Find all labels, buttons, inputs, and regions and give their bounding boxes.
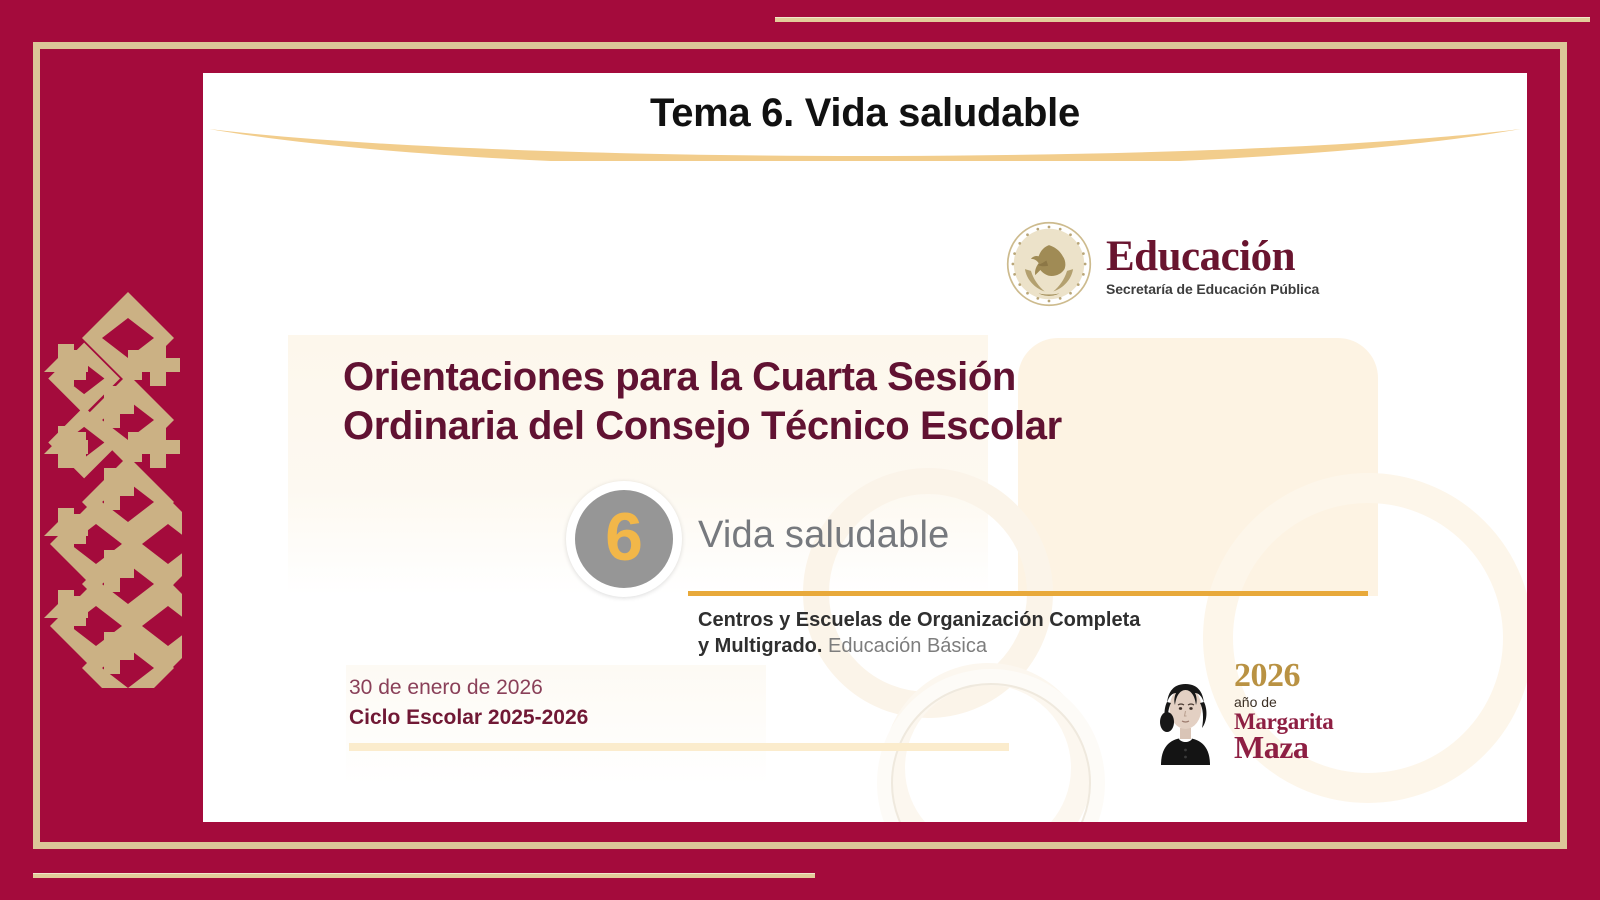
audience-line-2: y Multigrado. xyxy=(698,635,822,657)
topic-number: 6 xyxy=(605,503,643,571)
main-heading-line-2: Ordinaria del Consejo Técnico Escolar xyxy=(343,402,1183,451)
gold-accent-line-top xyxy=(775,17,1590,22)
mexican-national-seal-icon xyxy=(1006,221,1092,307)
gold-rule-divider xyxy=(688,591,1368,596)
commemorative-logo-text: 2026 año de Margarita Maza xyxy=(1234,659,1333,765)
audience-line-1: Centros y Escuelas de Organización Compl… xyxy=(698,609,1140,631)
date-block: 30 de enero de 2026 Ciclo Escolar 2025-2… xyxy=(349,673,588,734)
topic-label: Vida saludable xyxy=(698,514,949,557)
gold-accent-line-bottom xyxy=(33,873,815,878)
sep-logo: Educación Secretaría de Educación Públic… xyxy=(1006,221,1319,307)
commemorative-year: 2026 xyxy=(1234,659,1333,693)
audience-text: Centros y Escuelas de Organización Compl… xyxy=(698,607,1388,660)
school-cycle: Ciclo Escolar 2025-2026 xyxy=(349,703,588,733)
slide-stage: Tema 6. Vida saludable xyxy=(0,0,1600,900)
slide-card: Tema 6. Vida saludable xyxy=(203,73,1527,822)
main-heading: Orientaciones para la Cuarta Sesión Ordi… xyxy=(343,353,1183,451)
margarita-maza-portrait xyxy=(1143,662,1228,765)
main-heading-line-1: Orientaciones para la Cuarta Sesión xyxy=(343,353,1183,402)
topic-number-badge: 6 xyxy=(566,481,682,597)
audience-light-text: Educación Básica xyxy=(822,635,987,657)
session-date: 30 de enero de 2026 xyxy=(349,673,588,703)
background-circle-outline xyxy=(891,683,1091,822)
commemorative-last-name: Maza xyxy=(1234,731,1333,763)
sep-wordmark: Educación xyxy=(1106,235,1319,278)
commemorative-logo: 2026 año de Margarita Maza xyxy=(1143,660,1343,765)
sep-subtitle: Secretaría de Educación Pública xyxy=(1106,281,1319,297)
commemorative-ano-de: año de xyxy=(1234,695,1333,709)
sep-logo-text: Educación Secretaría de Educación Públic… xyxy=(1106,231,1319,297)
greca-pattern-decoration xyxy=(42,288,182,688)
date-underline-bar xyxy=(349,743,1009,751)
gold-swoosh-divider xyxy=(207,125,1523,161)
